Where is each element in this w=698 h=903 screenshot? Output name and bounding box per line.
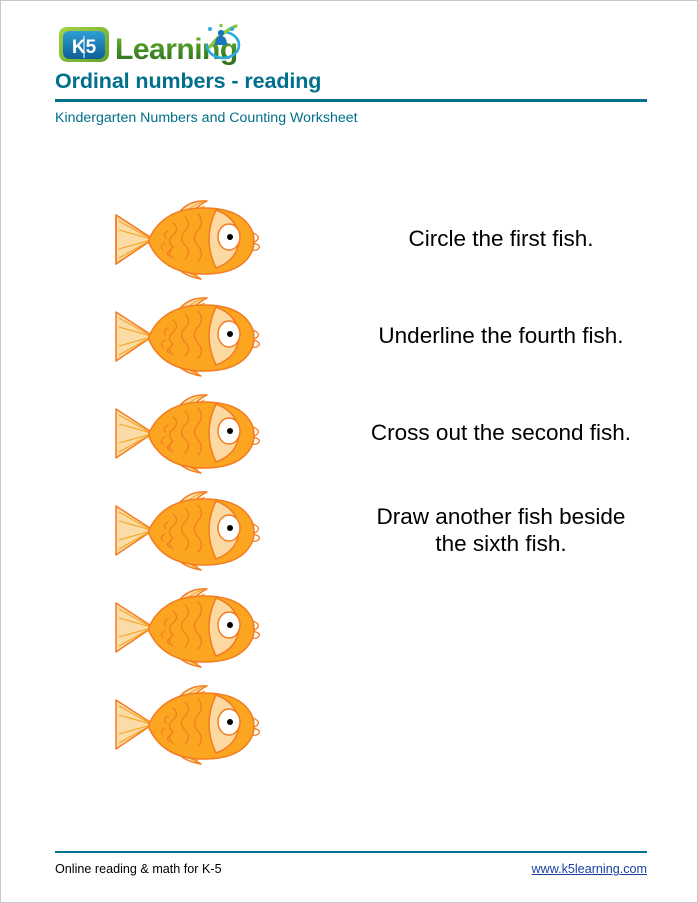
fish-slot[interactable]	[55, 197, 355, 283]
worksheet-row	[55, 676, 647, 773]
logo-dot-a-icon	[208, 27, 212, 31]
instruction-text: Draw another fish beside the sixth fish.	[355, 504, 647, 557]
worksheet-content: Circle the first fish.	[55, 191, 647, 811]
goldfish-icon	[113, 585, 265, 671]
goldfish-icon	[113, 197, 265, 283]
worksheet-row: Circle the first fish.	[55, 191, 647, 288]
fish-slot[interactable]	[55, 682, 355, 768]
footer-divider	[55, 851, 647, 854]
footer-website-link[interactable]: www.k5learning.com	[532, 862, 648, 876]
goldfish-icon	[113, 294, 265, 380]
fish-slot[interactable]	[55, 585, 355, 671]
page-header: K5 Learning Ordinal numbers - reading Ki…	[55, 23, 647, 127]
worksheet-page: K5 Learning Ordinal numbers - reading Ki…	[0, 0, 698, 903]
title-divider	[55, 99, 647, 102]
goldfish-icon	[113, 488, 265, 574]
k5-learning-logo: K5 Learning	[55, 23, 295, 69]
goldfish-icon	[113, 391, 265, 477]
logo-person-head-icon	[218, 30, 224, 36]
page-title: Ordinal numbers - reading	[55, 69, 647, 98]
page-footer: Online reading & math for K-5 www.k5lear…	[55, 851, 647, 877]
footer-tagline: Online reading & math for K-5	[55, 862, 222, 876]
worksheet-row: Draw another fish beside the sixth fish.	[55, 482, 647, 579]
goldfish-icon	[113, 682, 265, 768]
fish-slot[interactable]	[55, 294, 355, 380]
instruction-text: Cross out the second fish.	[355, 420, 647, 447]
footer-row: Online reading & math for K-5 www.k5lear…	[55, 862, 647, 876]
logo-dot-b-icon	[230, 27, 234, 31]
logo-graphic: K5 Learning	[55, 23, 295, 69]
instruction-text: Circle the first fish.	[355, 226, 647, 253]
logo-k5-text: K5	[72, 37, 97, 58]
fish-slot[interactable]	[55, 391, 355, 477]
instruction-text: Underline the fourth fish.	[355, 323, 647, 350]
fish-slot[interactable]	[55, 488, 355, 574]
worksheet-row: Cross out the second fish.	[55, 385, 647, 482]
logo-dot-c-icon	[219, 24, 223, 28]
worksheet-row	[55, 579, 647, 676]
worksheet-row: Underline the fourth fish.	[55, 288, 647, 385]
page-subtitle: Kindergarten Numbers and Counting Worksh…	[55, 110, 647, 127]
